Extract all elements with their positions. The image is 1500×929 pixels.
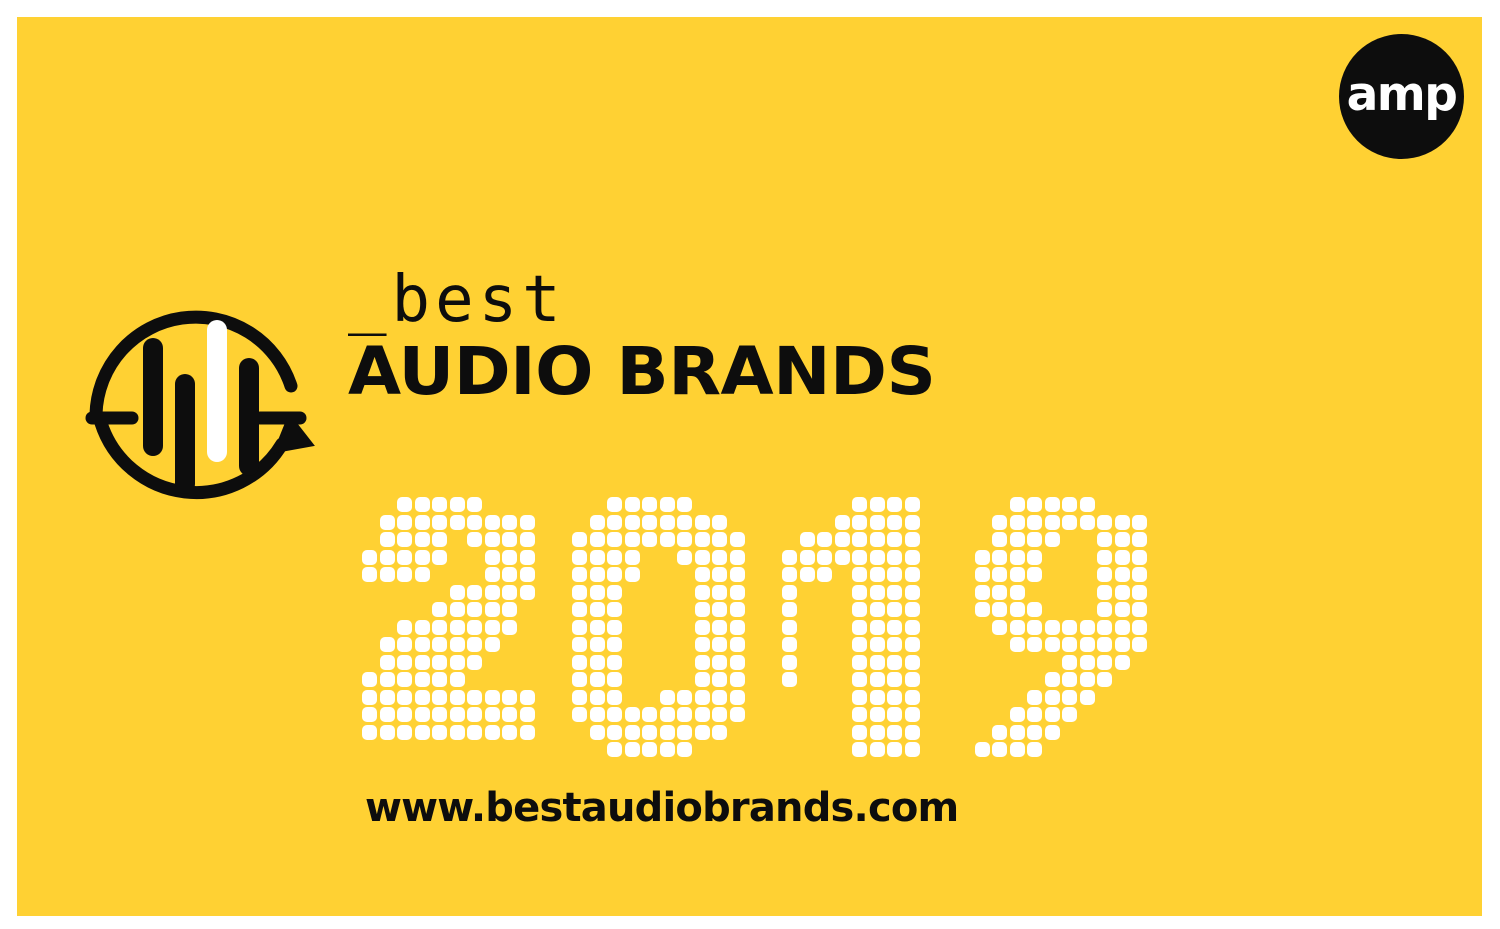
year-dot <box>730 550 745 565</box>
year-dot <box>1080 672 1095 687</box>
year-dot <box>467 637 482 652</box>
year-dot <box>362 672 377 687</box>
year-dot <box>1132 532 1147 547</box>
year-dot <box>905 672 920 687</box>
year-dot <box>1027 550 1042 565</box>
year-dot <box>870 637 885 652</box>
year-dot <box>852 690 867 705</box>
year-dot <box>590 725 605 740</box>
year-dot <box>712 550 727 565</box>
year-dot <box>1027 567 1042 582</box>
year-dot <box>432 620 447 635</box>
year-dot <box>415 515 430 530</box>
year-dot <box>695 620 710 635</box>
year-dot <box>1027 602 1042 617</box>
year-dot <box>432 707 447 722</box>
year-dot <box>695 515 710 530</box>
year-dot <box>607 497 622 512</box>
year-dot <box>852 672 867 687</box>
year-dot <box>607 550 622 565</box>
year-dot <box>607 585 622 600</box>
year-dot <box>607 637 622 652</box>
year-dot <box>905 620 920 635</box>
year-dot <box>660 515 675 530</box>
year-dot <box>607 707 622 722</box>
circular-audio-equalizer-refresh-icon <box>70 274 322 526</box>
year-dot <box>432 602 447 617</box>
year-dot <box>800 567 815 582</box>
year-dot <box>502 550 517 565</box>
year-dot <box>1080 637 1095 652</box>
year-dot <box>712 637 727 652</box>
year-dot <box>467 690 482 705</box>
year-dot <box>870 550 885 565</box>
year-dot <box>905 585 920 600</box>
year-dot <box>730 655 745 670</box>
year-dot <box>502 532 517 547</box>
year-dot <box>380 690 395 705</box>
year-dot <box>1010 515 1025 530</box>
year-dot <box>677 515 692 530</box>
year-dot <box>590 655 605 670</box>
year-dot <box>1097 637 1112 652</box>
year-dot <box>712 515 727 530</box>
year-dot <box>590 515 605 530</box>
year-dot <box>485 567 500 582</box>
year-dot <box>397 620 412 635</box>
year-dot <box>782 550 797 565</box>
year-dot <box>397 532 412 547</box>
year-dot <box>870 567 885 582</box>
year-dot <box>415 497 430 512</box>
year-dot <box>660 725 675 740</box>
year-dot <box>607 602 622 617</box>
website-url[interactable]: www.bestaudiobrands.com <box>365 785 958 831</box>
year-dot <box>520 567 535 582</box>
year-dot <box>485 532 500 547</box>
year-dot <box>852 742 867 757</box>
year-dot <box>1027 532 1042 547</box>
year-dot <box>905 550 920 565</box>
year-dot <box>660 690 675 705</box>
year-dot <box>870 655 885 670</box>
year-dot <box>625 725 640 740</box>
year-dot <box>1045 672 1060 687</box>
year-dot <box>415 655 430 670</box>
year-dot <box>712 585 727 600</box>
year-dot <box>450 707 465 722</box>
year-dot <box>712 620 727 635</box>
year-dot <box>625 550 640 565</box>
year-dot <box>397 707 412 722</box>
year-dot <box>485 637 500 652</box>
year-dot <box>835 550 850 565</box>
year-dot <box>467 707 482 722</box>
year-dot <box>905 725 920 740</box>
year-dot <box>695 690 710 705</box>
year-dot <box>642 497 657 512</box>
year-dot <box>870 672 885 687</box>
year-dot <box>572 585 587 600</box>
year-dot <box>730 690 745 705</box>
year-dot <box>782 585 797 600</box>
year-dot <box>432 497 447 512</box>
year-dot <box>1062 497 1077 512</box>
year-dot <box>607 690 622 705</box>
year-dot <box>432 532 447 547</box>
year-dot <box>870 585 885 600</box>
year-dot <box>432 550 447 565</box>
year-dot <box>870 497 885 512</box>
year-dot <box>450 602 465 617</box>
year-dot <box>607 515 622 530</box>
year-dot <box>870 620 885 635</box>
year-dot <box>625 707 640 722</box>
year-dot <box>572 707 587 722</box>
year-dot <box>870 532 885 547</box>
year-dot <box>1132 637 1147 652</box>
year-dot <box>870 707 885 722</box>
year-dot <box>660 707 675 722</box>
year-dot <box>852 532 867 547</box>
year-dot <box>1045 725 1060 740</box>
year-dot <box>432 515 447 530</box>
year-dot <box>485 725 500 740</box>
year-dot <box>1080 655 1095 670</box>
year-dot <box>852 707 867 722</box>
year-dot <box>520 725 535 740</box>
year-dot <box>397 567 412 582</box>
year-dot <box>485 585 500 600</box>
year-dot <box>1027 707 1042 722</box>
year-dot <box>380 725 395 740</box>
year-dot <box>520 550 535 565</box>
year-dot <box>1080 620 1095 635</box>
year-dot <box>782 567 797 582</box>
year-dot <box>520 532 535 547</box>
year-dot <box>397 690 412 705</box>
year-dot <box>572 567 587 582</box>
year-dot <box>1097 585 1112 600</box>
year-dot <box>695 585 710 600</box>
year-dot <box>905 532 920 547</box>
year-dot <box>992 550 1007 565</box>
year-dot <box>397 637 412 652</box>
year-dot <box>590 585 605 600</box>
year-dot <box>1062 637 1077 652</box>
year-dot <box>1097 620 1112 635</box>
year-dot <box>1132 585 1147 600</box>
year-dot <box>1115 515 1130 530</box>
year-dot <box>502 690 517 705</box>
year-dot <box>572 532 587 547</box>
year-dot <box>782 602 797 617</box>
year-dot <box>467 725 482 740</box>
year-dot <box>677 690 692 705</box>
year-dot <box>380 655 395 670</box>
year-dot <box>677 707 692 722</box>
year-dot <box>870 742 885 757</box>
year-dot <box>1062 655 1077 670</box>
year-dot <box>887 672 902 687</box>
year-dot <box>397 550 412 565</box>
year-dot <box>905 742 920 757</box>
year-dot <box>1027 620 1042 635</box>
year-dot <box>835 532 850 547</box>
year-dot <box>712 690 727 705</box>
year-dot <box>415 620 430 635</box>
year-dot <box>467 497 482 512</box>
year-dot <box>415 707 430 722</box>
year-dot <box>450 690 465 705</box>
year-dot <box>415 725 430 740</box>
year-dot <box>1132 620 1147 635</box>
year-dot <box>1115 637 1130 652</box>
year-dot <box>380 550 395 565</box>
year-dot <box>817 567 832 582</box>
year-dot <box>1080 515 1095 530</box>
year-dot <box>887 690 902 705</box>
year-dot <box>852 637 867 652</box>
year-dot <box>380 567 395 582</box>
wordmark-line-two: AUDIO BRANDS <box>348 337 1034 406</box>
year-dot <box>835 515 850 530</box>
year-dot <box>642 532 657 547</box>
year-dot <box>590 690 605 705</box>
year-dot <box>467 602 482 617</box>
year-dot <box>870 690 885 705</box>
year-dot <box>1010 567 1025 582</box>
year-dot <box>1132 550 1147 565</box>
year-dot <box>1080 690 1095 705</box>
year-dot <box>502 515 517 530</box>
year-dot <box>695 602 710 617</box>
year-dot <box>712 707 727 722</box>
year-dot <box>625 497 640 512</box>
year-dot <box>1027 742 1042 757</box>
year-dot <box>590 602 605 617</box>
year-dot <box>520 690 535 705</box>
year-dot <box>992 567 1007 582</box>
brand-lockup: _best AUDIO BRANDS <box>70 268 1010 528</box>
year-dot <box>572 550 587 565</box>
year-dot <box>572 655 587 670</box>
year-dot <box>625 532 640 547</box>
year-dot <box>590 672 605 687</box>
year-dot <box>1010 637 1025 652</box>
year-dot <box>992 725 1007 740</box>
year-dot <box>992 585 1007 600</box>
year-dot <box>502 567 517 582</box>
year-dot <box>887 725 902 740</box>
year-dot <box>607 672 622 687</box>
year-dot <box>712 725 727 740</box>
year-dot <box>607 620 622 635</box>
year-dot <box>852 620 867 635</box>
year-dot <box>502 620 517 635</box>
year-dot <box>975 585 990 600</box>
year-dot <box>590 532 605 547</box>
year-dot <box>380 515 395 530</box>
year-dot <box>450 655 465 670</box>
year-dot <box>695 532 710 547</box>
year-dot <box>572 637 587 652</box>
year-dot <box>992 620 1007 635</box>
year-dot <box>887 655 902 670</box>
year-dot <box>905 707 920 722</box>
year-dot <box>380 672 395 687</box>
year-dot <box>1045 515 1060 530</box>
year-dot <box>415 567 430 582</box>
year-dot <box>852 515 867 530</box>
year-dot <box>362 725 377 740</box>
year-dot <box>677 742 692 757</box>
year-dot <box>1045 690 1060 705</box>
year-dot <box>730 620 745 635</box>
year-dot <box>520 707 535 722</box>
year-dot <box>362 690 377 705</box>
year-dot <box>625 515 640 530</box>
year-dot <box>362 707 377 722</box>
year-dot <box>1010 707 1025 722</box>
year-dot <box>695 707 710 722</box>
year-dot <box>677 532 692 547</box>
year-dot <box>677 550 692 565</box>
year-dot <box>1062 707 1077 722</box>
year-dot <box>905 690 920 705</box>
year-dot <box>730 585 745 600</box>
year-dot <box>695 655 710 670</box>
year-dot <box>852 655 867 670</box>
year-dot <box>432 725 447 740</box>
year-dot <box>590 620 605 635</box>
year-dot <box>887 550 902 565</box>
year-dot <box>502 585 517 600</box>
year-dot <box>730 602 745 617</box>
year-dot <box>852 725 867 740</box>
year-dot <box>380 532 395 547</box>
year-dot <box>975 742 990 757</box>
year-dot <box>572 672 587 687</box>
poster-frame: amp <box>0 0 1500 929</box>
year-dot <box>485 515 500 530</box>
year-dot <box>450 672 465 687</box>
year-dot <box>397 497 412 512</box>
year-dot <box>1097 655 1112 670</box>
year-dot <box>1115 655 1130 670</box>
year-dot <box>642 742 657 757</box>
year-dot <box>1097 567 1112 582</box>
year-dot <box>852 585 867 600</box>
year-dot <box>450 585 465 600</box>
year-dot <box>887 602 902 617</box>
year-dot <box>730 707 745 722</box>
year-dot <box>1062 672 1077 687</box>
year-dot <box>782 655 797 670</box>
year-dot <box>1115 585 1130 600</box>
year-dot <box>905 637 920 652</box>
year-dot <box>362 567 377 582</box>
year-dot <box>607 532 622 547</box>
year-dot <box>415 690 430 705</box>
year-dot <box>380 707 395 722</box>
year-dot <box>1097 602 1112 617</box>
year-dot <box>660 497 675 512</box>
year-dot <box>975 550 990 565</box>
year-dot <box>432 655 447 670</box>
year-dot <box>905 497 920 512</box>
year-dot <box>642 515 657 530</box>
year-dot <box>1062 620 1077 635</box>
year-dot <box>660 532 675 547</box>
year-dot <box>520 515 535 530</box>
year-dot <box>782 637 797 652</box>
year-dot <box>712 567 727 582</box>
year-dot <box>572 602 587 617</box>
year-dot <box>817 532 832 547</box>
year-dot <box>397 725 412 740</box>
year-dot <box>782 620 797 635</box>
year-dot <box>502 725 517 740</box>
year-dot <box>485 620 500 635</box>
year-dot <box>1045 637 1060 652</box>
year-dot <box>887 567 902 582</box>
year-dot <box>450 725 465 740</box>
year-dot <box>485 690 500 705</box>
year-dot <box>502 707 517 722</box>
year-dot <box>607 742 622 757</box>
year-dot <box>852 550 867 565</box>
year-dot <box>432 637 447 652</box>
year-dot <box>677 725 692 740</box>
year-dot <box>380 637 395 652</box>
year-dot <box>1097 672 1112 687</box>
year-dot <box>905 567 920 582</box>
year-dot <box>520 585 535 600</box>
year-dot <box>432 672 447 687</box>
year-dot <box>712 602 727 617</box>
year-dot <box>1010 497 1025 512</box>
year-dot <box>450 515 465 530</box>
year-dot <box>1115 550 1130 565</box>
year-dot <box>415 637 430 652</box>
year-dot <box>730 532 745 547</box>
year-dot <box>887 620 902 635</box>
year-dot <box>695 637 710 652</box>
year-dot <box>887 585 902 600</box>
year-dot <box>450 620 465 635</box>
year-dot <box>992 515 1007 530</box>
year-dot <box>485 602 500 617</box>
year-dot <box>467 515 482 530</box>
year-dot <box>467 532 482 547</box>
year-dot <box>1097 550 1112 565</box>
year-dot <box>607 567 622 582</box>
year-dot <box>695 725 710 740</box>
year-dot <box>502 602 517 617</box>
amp-logo-badge[interactable]: amp <box>1339 34 1464 159</box>
year-dot <box>992 602 1007 617</box>
year-dot <box>625 567 640 582</box>
year-dot <box>1010 620 1025 635</box>
year-dot <box>1045 707 1060 722</box>
year-dot <box>905 602 920 617</box>
year-dot <box>415 550 430 565</box>
year-dot <box>467 620 482 635</box>
year-dot <box>1027 497 1042 512</box>
year-dot <box>1027 637 1042 652</box>
year-dot <box>1010 602 1025 617</box>
